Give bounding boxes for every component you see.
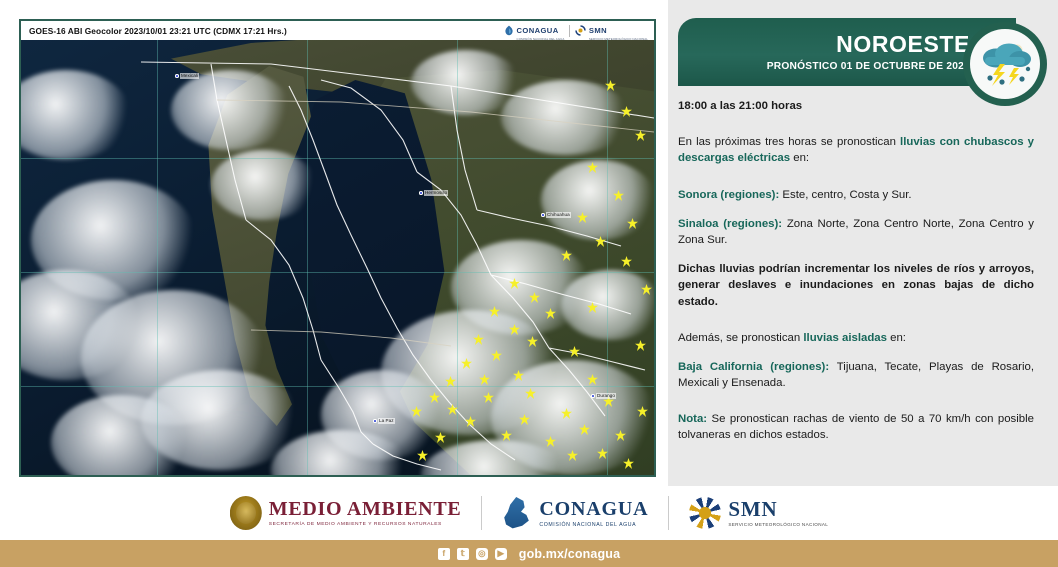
smn-footer-title: SMN — [728, 498, 828, 520]
gob-mx-url[interactable]: gob.mx/conagua — [519, 547, 620, 561]
smn-footer-text-block: SMN SERVICIO METEOROLÓGICO NACIONAL — [728, 498, 828, 528]
additional-tail-text: en: — [887, 332, 906, 344]
state-entry: Sinaloa (regiones): Zona Norte, Zona Cen… — [678, 216, 1034, 248]
isolated-state-entry: Baja California (regiones): Tijuana, Tec… — [678, 359, 1034, 391]
conagua-logo-text: CONAGUA — [517, 26, 559, 35]
city-label: Mexicali — [175, 73, 199, 79]
note-wind-speed: 50 a 70 km/h — [901, 413, 971, 425]
spacer — [678, 114, 1034, 134]
city-label: Chihuahua — [541, 212, 571, 218]
weather-badge-inner — [970, 29, 1040, 99]
city-marker-icon — [591, 394, 595, 398]
medio-ambiente-subtitle: SECRETARÍA DE MEDIO AMBIENTE Y RECURSOS … — [269, 522, 462, 527]
city-name: Durango — [596, 393, 616, 399]
city-name: La Paz — [378, 418, 395, 424]
note-part-3: en dichos estados. — [731, 429, 829, 441]
note-part-1: Se pronostican rachas de viento de — [707, 413, 901, 425]
smn-footer-logo: SMN SERVICIO METEOROLÓGICO NACIONAL — [689, 497, 828, 529]
spacer — [678, 391, 1034, 411]
wind-note: Nota: Se pronostican rachas de viento de… — [678, 411, 1034, 443]
weather-badge — [963, 22, 1047, 106]
satellite-title: GOES-16 ABI Geocolor 2023/10/01 23:21 UT… — [29, 26, 287, 36]
medio-ambiente-title: MEDIO AMBIENTE — [269, 499, 462, 520]
city-label: La Paz — [373, 418, 395, 424]
city-marker-icon — [373, 419, 377, 423]
mexico-eagle-seal-icon — [230, 496, 262, 530]
conagua-logo-text-block: CONAGUA COMISIÓN NACIONAL DEL AGUA — [517, 20, 565, 41]
forecast-time-range: 18:00 a las 21:00 horas — [678, 98, 1034, 114]
twitter-icon[interactable]: 𝕥 — [457, 548, 469, 560]
flood-warning-text: Dichas lluvias podrían incrementar los n… — [678, 261, 1034, 310]
note-tolvaneras: tolvaneras — [678, 429, 731, 441]
political-borders-layer — [21, 40, 654, 475]
smn-spiral-icon — [689, 497, 721, 529]
smn-footer-subtitle: SERVICIO METEOROLÓGICO NACIONAL — [728, 522, 828, 528]
satellite-image-frame: GOES-16 ABI Geocolor 2023/10/01 23:21 UT… — [19, 19, 656, 477]
spacer — [678, 310, 1034, 330]
youtube-icon[interactable]: ▶ — [495, 548, 507, 560]
state-regions: Este, centro, Costa y Sur. — [779, 189, 911, 201]
intro-tail-text: en: — [790, 152, 809, 164]
footer-logo-bar: MEDIO AMBIENTE SECRETARÍA DE MEDIO AMBIE… — [0, 486, 1058, 540]
conagua-footer-title: CONAGUA — [539, 499, 648, 520]
forecast-intro: En las próximas tres horas se pronostica… — [678, 134, 1034, 166]
forecast-date-subtitle: PRONÓSTICO 01 DE OCTUBRE DE 2023 — [767, 61, 970, 72]
medio-ambiente-text-block: MEDIO AMBIENTE SECRETARÍA DE MEDIO AMBIE… — [269, 499, 462, 527]
state-entry: Sonora (regiones): Este, centro, Costa y… — [678, 187, 1034, 203]
bottom-social-bar: f 𝕥 ◎ ▶ gob.mx/conagua — [0, 540, 1058, 567]
state-label: Sonora (regiones): — [678, 189, 779, 201]
conagua-footer-text-block: CONAGUA COMISIÓN NACIONAL DEL AGUA — [539, 499, 648, 528]
forecast-body: 18:00 a las 21:00 horas En las próximas … — [678, 98, 1046, 444]
city-label: Durango — [591, 393, 616, 399]
conagua-footer-logo: CONAGUA COMISIÓN NACIONAL DEL AGUA — [502, 497, 648, 529]
logo-divider — [569, 25, 570, 37]
satellite-logo-row: CONAGUA COMISIÓN NACIONAL DEL AGUA SMN — [504, 20, 648, 41]
satellite-conagua-logo: CONAGUA COMISIÓN NACIONAL DEL AGUA — [504, 20, 564, 41]
conagua-water-drop-icon — [502, 497, 532, 529]
spacer — [678, 248, 1034, 261]
forecast-panel: NOROESTE PRONÓSTICO 01 DE OCTUBRE DE 202… — [668, 0, 1058, 486]
satellite-smn-logo: SMN SERVICIO METEOROLÓGICO NACIONAL — [575, 20, 648, 41]
infographic-root: GOES-16 ABI Geocolor 2023/10/01 23:21 UT… — [0, 0, 1058, 567]
city-marker-icon — [175, 74, 179, 78]
footer-divider — [481, 496, 482, 530]
smn-logo-text-block: SMN SERVICIO METEOROLÓGICO NACIONAL — [589, 20, 648, 41]
satellite-map-image: Mexicali Hermosillo Chihuahua Durango — [21, 40, 654, 475]
intro-plain-text: En las próximas tres horas se pronostica… — [678, 136, 900, 148]
city-label: Hermosillo — [419, 190, 448, 196]
region-title: NOROESTE — [836, 32, 970, 56]
conagua-footer-subtitle: COMISIÓN NACIONAL DEL AGUA — [539, 522, 648, 528]
additional-forecast: Además, se pronostican lluvias aisladas … — [678, 330, 1034, 346]
state-label: Sinaloa (regiones): — [678, 218, 782, 230]
note-label: Nota: — [678, 413, 707, 425]
city-name: Chihuahua — [546, 212, 571, 218]
satellite-panel: GOES-16 ABI Geocolor 2023/10/01 23:21 UT… — [0, 0, 668, 486]
spacer — [678, 203, 1034, 216]
city-name: Hermosillo — [424, 190, 448, 196]
smn-logo-text: SMN — [589, 26, 607, 35]
city-name: Mexicali — [180, 73, 199, 79]
conagua-water-icon — [504, 25, 514, 36]
city-marker-icon — [541, 213, 545, 217]
isolated-state-label: Baja California (regiones): — [678, 361, 829, 373]
satellite-titlebar: GOES-16 ABI Geocolor 2023/10/01 23:21 UT… — [21, 21, 654, 40]
smn-logo-subtext: SERVICIO METEOROLÓGICO NACIONAL — [589, 38, 648, 41]
thunderstorm-rain-icon — [976, 39, 1034, 89]
instagram-icon[interactable]: ◎ — [476, 548, 488, 560]
footer-divider — [668, 496, 669, 530]
spacer — [678, 167, 1034, 187]
spacer — [678, 346, 1034, 359]
conagua-logo-subtext: COMISIÓN NACIONAL DEL AGUA — [517, 38, 565, 41]
additional-plain-text: Además, se pronostican — [678, 332, 803, 344]
facebook-icon[interactable]: f — [438, 548, 450, 560]
medio-ambiente-logo: MEDIO AMBIENTE SECRETARÍA DE MEDIO AMBIE… — [230, 496, 462, 530]
note-part-2: con posible — [971, 413, 1034, 425]
additional-highlight-text: lluvias aisladas — [803, 332, 887, 344]
city-marker-icon — [419, 191, 423, 195]
smn-spiral-icon — [575, 25, 586, 36]
